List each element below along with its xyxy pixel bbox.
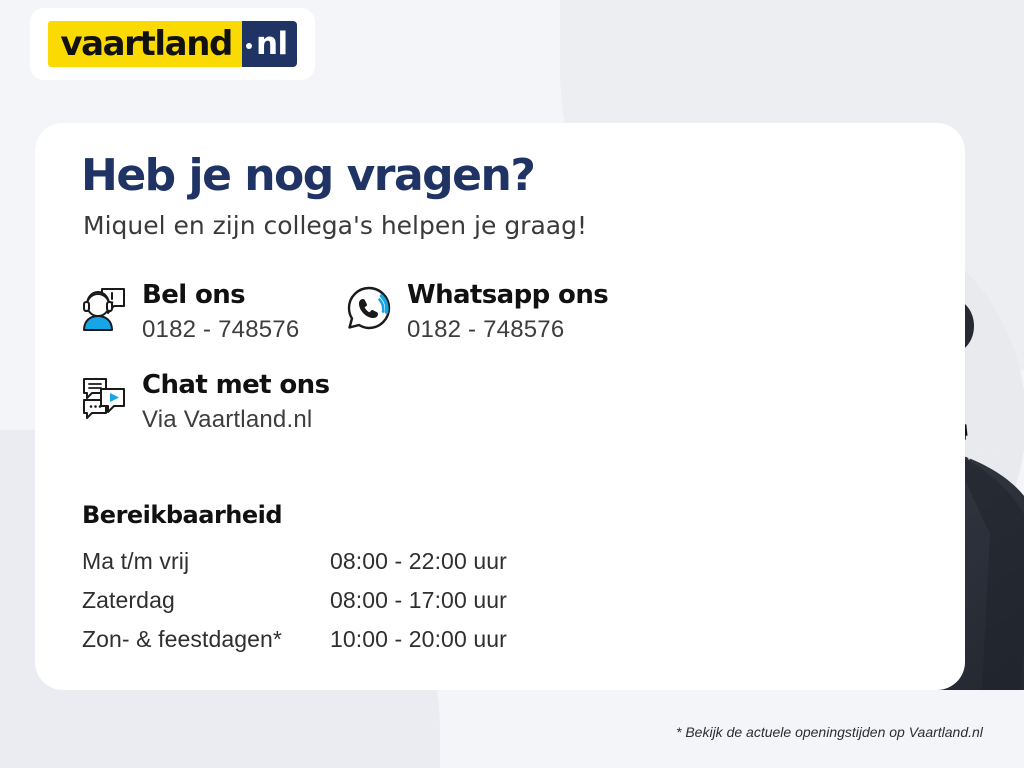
contact-value-whatsapp: 0182 - 748576 <box>407 316 608 344</box>
page-title: Heb je nog vragen? <box>81 150 534 201</box>
brand-logo-tld: nl <box>256 29 288 60</box>
table-row: Zaterdag 08:00 - 17:00 uur <box>82 587 507 626</box>
hours-time: 08:00 - 17:00 uur <box>330 587 507 626</box>
brand-logo-word-plate: vaartland <box>48 21 242 67</box>
contact-item-call[interactable]: Bel ons 0182 - 748576 <box>80 281 299 344</box>
page-subtitle: Miquel en zijn collega's helpen je graag… <box>83 211 587 240</box>
headset-person-icon <box>80 283 128 333</box>
hours-time: 08:00 - 22:00 uur <box>330 548 507 587</box>
contact-text-whatsapp: Whatsapp ons 0182 - 748576 <box>407 281 608 344</box>
contact-item-chat[interactable]: Chat met ons Via Vaartland.nl <box>80 371 329 434</box>
hours-day: Zon- & feestdagen* <box>82 626 330 665</box>
brand-logo-inner: vaartland nl <box>48 21 296 67</box>
hours-day: Ma t/m vrij <box>82 548 330 587</box>
contact-card: Heb je nog vragen? Miquel en zijn colleg… <box>35 123 965 690</box>
contact-value-call: 0182 - 748576 <box>142 316 299 344</box>
contact-text-chat: Chat met ons Via Vaartland.nl <box>142 371 329 434</box>
whatsapp-icon <box>345 283 393 333</box>
contact-value-chat: Via Vaartland.nl <box>142 406 329 434</box>
brand-logo-dot-icon <box>246 43 252 49</box>
table-row: Zon- & feestdagen* 10:00 - 20:00 uur <box>82 626 507 665</box>
contact-text-call: Bel ons 0182 - 748576 <box>142 281 299 344</box>
brand-logo-word: vaartland <box>60 27 232 61</box>
chat-bubbles-icon <box>80 373 128 423</box>
hours-title: Bereikbaarheid <box>82 501 282 529</box>
contact-title-whatsapp: Whatsapp ons <box>407 281 608 311</box>
brand-logo[interactable]: vaartland nl <box>30 8 315 80</box>
hours-day: Zaterdag <box>82 587 330 626</box>
contact-title-call: Bel ons <box>142 281 299 311</box>
contact-item-whatsapp[interactable]: Whatsapp ons 0182 - 748576 <box>345 281 608 344</box>
hours-time: 10:00 - 20:00 uur <box>330 626 507 665</box>
brand-logo-tld-plate: nl <box>242 21 297 67</box>
table-row: Ma t/m vrij 08:00 - 22:00 uur <box>82 548 507 587</box>
footnote: * Bekijk de actuele openingstijden op Va… <box>676 724 983 740</box>
contact-banner: vaartland nl <box>0 0 1024 768</box>
contact-title-chat: Chat met ons <box>142 371 329 401</box>
hours-table: Ma t/m vrij 08:00 - 22:00 uur Zaterdag 0… <box>82 548 507 665</box>
